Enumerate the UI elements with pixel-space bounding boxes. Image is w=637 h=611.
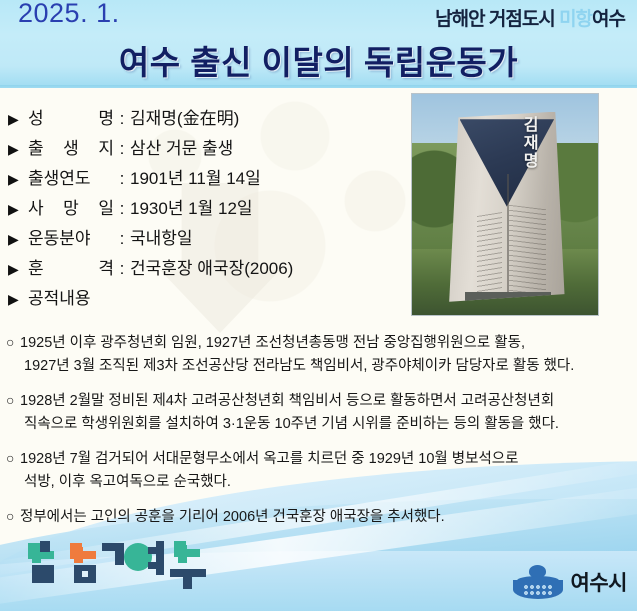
achievements-heading: 공적내용 [28, 284, 91, 309]
info-value: 1901년 11월 14일 [130, 164, 261, 189]
triangle-right-icon: ▶ [8, 292, 24, 306]
info-row: ▶ 훈 격 : 건국훈장 애국장(2006) [8, 254, 408, 284]
achievement-item: ○1928년 2월말 정비된 제4차 고려공산청년회 책임비서 등으로 활동하면… [6, 389, 634, 437]
circle-outline-icon: ○ [6, 389, 20, 412]
achievement-line: ○정부에서는 고인의 공훈을 기리어 2006년 건국훈장 애국장을 추서했다. [6, 505, 634, 529]
info-label: 훈 격 [28, 254, 114, 279]
profile-info-list: ▶ 성 명 : 김재명(金在明) ▶ 출 생 지 : 삼산 거문 출생 ▶ 출생… [8, 104, 408, 314]
monument-name-text: 김재명 [516, 116, 540, 170]
achievement-text: 1928년 2월말 정비된 제4차 고려공산청년회 책임비서 등으로 활동하면서… [20, 393, 554, 409]
info-value: 1930년 1월 12일 [130, 194, 253, 219]
info-colon: : [114, 139, 130, 159]
achievements-list: ○1925년 이후 광주청년회 임원, 1927년 조선청년총동맹 전남 중앙집… [6, 331, 634, 539]
info-label: 운동분야 [28, 224, 114, 249]
monument-photo: 김재명 [411, 93, 599, 316]
info-label: 출 생 지 [28, 134, 114, 159]
issue-date: 2025. 1. [18, 0, 120, 29]
info-value: 건국훈장 애국장(2006) [130, 254, 293, 279]
achievement-text: 1927년 3월 조직된 제3차 조선공산당 전라남도 책임비서, 광주야체이카… [6, 355, 634, 378]
achievement-text: 1925년 이후 광주청년회 임원, 1927년 조선청년총동맹 전남 중앙집행… [20, 335, 525, 351]
info-row: ▶ 사 망 일 : 1930년 1월 12일 [8, 194, 408, 224]
achievement-text: 정부에서는 고인의 공훈을 기리어 2006년 건국훈장 애국장을 추서했다. [20, 509, 445, 525]
monument-stone [449, 112, 564, 302]
info-colon: : [114, 259, 130, 279]
info-row: ▶ 성 명 : 김재명(金在明) [8, 104, 408, 134]
city-mark: 여수시 [513, 565, 627, 599]
poster-root: 2025. 1. 남해안 거점도시 미항여수 여수 출신 이달의 독립운동가 ▶… [0, 0, 637, 611]
circle-outline-icon: ○ [6, 331, 20, 354]
achievement-line: ○1925년 이후 광주청년회 임원, 1927년 조선청년총동맹 전남 중앙집… [6, 331, 634, 355]
achievement-item: ○1928년 7월 검거되어 서대문형무소에서 옥고를 치르던 중 1929년 … [6, 447, 634, 495]
achievement-text: 직속으로 학생위원회를 설치하여 3·1운동 10주년 기념 시위를 준비하는 … [6, 413, 634, 436]
monument-inscription-right [509, 204, 546, 296]
seomseom-yeosu-logo-icon [18, 539, 218, 597]
triangle-right-icon: ▶ [8, 232, 24, 246]
city-mark-text: 여수시 [571, 567, 627, 597]
achievement-text: 석방, 이후 옥고여독으로 순국했다. [6, 471, 634, 494]
info-label: 출생연도 [28, 164, 114, 189]
triangle-right-icon: ▶ [8, 202, 24, 216]
triangle-right-icon: ▶ [8, 142, 24, 156]
info-colon: : [114, 169, 130, 189]
achievement-text: 1928년 7월 검거되어 서대문형무소에서 옥고를 치르던 중 1929년 1… [20, 451, 518, 467]
circle-outline-icon: ○ [6, 505, 20, 528]
slogan-highlight: 미항 [559, 9, 592, 30]
yeosu-emblem-icon [513, 565, 565, 599]
info-colon: : [114, 199, 130, 219]
info-row: ▶ 출 생 지 : 삼산 거문 출생 [8, 134, 408, 164]
info-colon: : [114, 229, 130, 249]
achievement-item: ○1925년 이후 광주청년회 임원, 1927년 조선청년총동맹 전남 중앙집… [6, 331, 634, 379]
page-title: 여수 출신 이달의 독립운동가 [0, 36, 637, 84]
slogan-prefix: 남해안 거점도시 [435, 9, 559, 30]
achievements-heading-row: ▶ 공적내용 [8, 284, 408, 314]
info-label: 사 망 일 [28, 194, 114, 219]
info-row: ▶ 운동분야 : 국내항일 [8, 224, 408, 254]
triangle-right-icon: ▶ [8, 112, 24, 126]
info-label: 성 명 [28, 104, 114, 129]
city-brand-logo: 섬섬여수 [18, 539, 218, 597]
header-band: 2025. 1. 남해안 거점도시 미항여수 여수 출신 이달의 독립운동가 [0, 0, 637, 88]
triangle-right-icon: ▶ [8, 262, 24, 276]
info-colon: : [114, 109, 130, 129]
info-value: 국내항일 [130, 224, 193, 249]
info-value: 삼산 거문 출생 [130, 134, 233, 159]
achievement-line: ○1928년 7월 검거되어 서대문형무소에서 옥고를 치르던 중 1929년 … [6, 447, 634, 471]
achievement-item: ○정부에서는 고인의 공훈을 기리어 2006년 건국훈장 애국장을 추서했다. [6, 505, 634, 529]
slogan-suffix: 여수 [592, 9, 625, 30]
city-slogan-logo: 남해안 거점도시 미항여수 [435, 4, 625, 31]
info-row: ▶ 출생연도 : 1901년 11월 14일 [8, 164, 408, 194]
circle-outline-icon: ○ [6, 447, 20, 470]
emblem-dots [523, 584, 553, 595]
triangle-right-icon: ▶ [8, 172, 24, 186]
monument-inscription-left [477, 212, 502, 296]
info-value: 김재명(金在明) [130, 104, 239, 129]
achievement-line: ○1928년 2월말 정비된 제4차 고려공산청년회 책임비서 등으로 활동하면… [6, 389, 634, 413]
